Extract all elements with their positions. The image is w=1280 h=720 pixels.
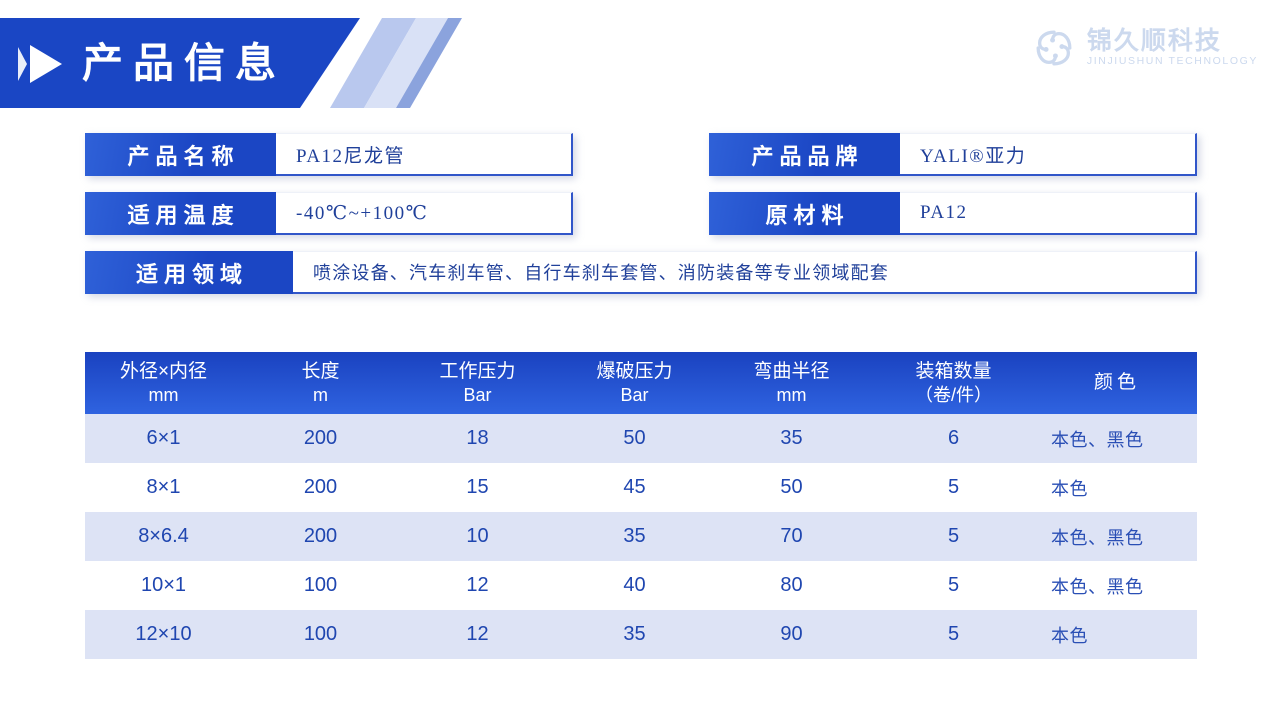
- field-value-operating-temperature: -40℃~+100℃: [276, 192, 573, 235]
- header-banner-content: 产品信息: [0, 18, 286, 108]
- column-header-unit: Bar: [556, 384, 713, 408]
- logo-name-en: JINJIUSHUN TECHNOLOGY: [1087, 55, 1258, 68]
- field-row-2: 适用温度 -40℃~+100℃ 原材料 PA12: [85, 192, 1197, 235]
- column-header-name: 工作压力: [439, 361, 515, 382]
- table-cell: 12: [399, 610, 556, 659]
- table-column-header-4: 爆破压力Bar: [556, 352, 713, 414]
- table-cell: 5: [870, 512, 1037, 561]
- field-label-application-area: 适用领域: [85, 251, 293, 294]
- company-logo: 锦久顺科技 JINJIUSHUN TECHNOLOGY: [1031, 25, 1258, 71]
- column-header-unit: （卷/件）: [870, 384, 1037, 408]
- table-cell-color: 本色、黑色: [1037, 512, 1197, 561]
- table-column-header-5: 弯曲半径mm: [713, 352, 870, 414]
- column-header-name: 装箱数量: [915, 361, 991, 382]
- table-cell: 35: [556, 512, 713, 561]
- table-cell: 70: [713, 512, 870, 561]
- table-row: 6×12001850356本色、黑色: [85, 414, 1197, 463]
- table-cell: 5: [870, 561, 1037, 610]
- table-cell: 10: [399, 512, 556, 561]
- field-application-area: 适用领域 喷涂设备、汽车刹车管、自行车刹车套管、消防装备等专业领域配套: [85, 251, 1197, 294]
- column-header-unit: mm: [713, 384, 870, 408]
- table-cell: 50: [713, 463, 870, 512]
- field-value-product-name: PA12尼龙管: [276, 133, 573, 176]
- table-cell: 200: [242, 414, 399, 463]
- table-cell: 40: [556, 561, 713, 610]
- page-title: 产品信息: [82, 43, 286, 84]
- table-column-header-7: 颜色: [1037, 352, 1197, 414]
- table-row: 12×101001235905本色: [85, 610, 1197, 659]
- table-cell: 12: [399, 561, 556, 610]
- field-product-brand: 产品品牌 YALI®亚力: [709, 133, 1197, 176]
- table-cell: 8×1: [85, 463, 242, 512]
- column-header-name: 爆破压力: [596, 361, 672, 382]
- column-header-name: 弯曲半径: [753, 361, 829, 382]
- table-cell: 80: [713, 561, 870, 610]
- table-column-header-6: 装箱数量（卷/件）: [870, 352, 1037, 414]
- logo-dot-right: [1059, 44, 1064, 49]
- column-header-name: 颜色: [1094, 372, 1140, 393]
- specification-table: 外径×内径mm长度m工作压力Bar爆破压力Bar弯曲半径mm装箱数量（卷/件）颜…: [85, 352, 1197, 659]
- table-cell: 12×10: [85, 610, 242, 659]
- table-cell: 15: [399, 463, 556, 512]
- column-header-unit: mm: [85, 384, 242, 408]
- field-label-operating-temperature: 适用温度: [85, 192, 276, 235]
- table-cell: 45: [556, 463, 713, 512]
- field-label-raw-material: 原材料: [709, 192, 900, 235]
- field-operating-temperature: 适用温度 -40℃~+100℃: [85, 192, 573, 235]
- field-label-product-brand: 产品品牌: [709, 133, 900, 176]
- field-row-3: 适用领域 喷涂设备、汽车刹车管、自行车刹车套管、消防装备等专业领域配套: [85, 251, 1197, 294]
- play-triangle-icon: [18, 45, 62, 83]
- table-row: 8×12001545505本色: [85, 463, 1197, 512]
- column-header-unit: m: [242, 384, 399, 408]
- table-cell: 5: [870, 610, 1037, 659]
- logo-dot-top: [1050, 38, 1055, 43]
- logo-name-cn: 锦久顺科技: [1087, 28, 1258, 55]
- table-cell: 200: [242, 512, 399, 561]
- field-value-product-brand: YALI®亚力: [900, 133, 1197, 176]
- column-header-unit: Bar: [399, 384, 556, 408]
- table-column-header-3: 工作压力Bar: [399, 352, 556, 414]
- table-header-row: 外径×内径mm长度m工作压力Bar爆破压力Bar弯曲半径mm装箱数量（卷/件）颜…: [85, 352, 1197, 414]
- table-cell: 35: [556, 610, 713, 659]
- table-body: 6×12001850356本色、黑色8×12001545505本色8×6.420…: [85, 414, 1197, 659]
- table-row: 8×6.42001035705本色、黑色: [85, 512, 1197, 561]
- table-cell: 5: [870, 463, 1037, 512]
- table-header: 外径×内径mm长度m工作压力Bar爆破压力Bar弯曲半径mm装箱数量（卷/件）颜…: [85, 352, 1197, 414]
- logo-dot-bottom: [1053, 53, 1058, 58]
- table-cell-color: 本色、黑色: [1037, 561, 1197, 610]
- field-product-name: 产品名称 PA12尼龙管: [85, 133, 573, 176]
- logo-text-block: 锦久顺科技 JINJIUSHUN TECHNOLOGY: [1087, 28, 1258, 68]
- jinjiushun-logo-mark: [1031, 25, 1077, 71]
- table-cell-color: 本色: [1037, 610, 1197, 659]
- logo-dot-left: [1044, 47, 1049, 52]
- table-cell: 6: [870, 414, 1037, 463]
- table-cell-color: 本色、黑色: [1037, 414, 1197, 463]
- field-raw-material: 原材料 PA12: [709, 192, 1197, 235]
- table-cell: 100: [242, 561, 399, 610]
- field-label-product-name: 产品名称: [85, 133, 276, 176]
- table-cell: 10×1: [85, 561, 242, 610]
- table-cell: 50: [556, 414, 713, 463]
- table-cell: 100: [242, 610, 399, 659]
- table-cell-color: 本色: [1037, 463, 1197, 512]
- product-info-fields: 产品名称 PA12尼龙管 产品品牌 YALI®亚力 适用温度 -40℃~+100…: [85, 133, 1197, 310]
- table-cell: 35: [713, 414, 870, 463]
- play-triangle-sliver: [18, 47, 27, 81]
- table-cell: 6×1: [85, 414, 242, 463]
- column-header-name: 长度: [301, 361, 339, 382]
- column-header-name: 外径×内径: [120, 361, 207, 382]
- table-cell: 8×6.4: [85, 512, 242, 561]
- table-column-header-1: 外径×内径mm: [85, 352, 242, 414]
- table-cell: 200: [242, 463, 399, 512]
- field-value-raw-material: PA12: [900, 192, 1197, 235]
- table-cell: 18: [399, 414, 556, 463]
- play-triangle-main: [30, 45, 62, 83]
- table-column-header-2: 长度m: [242, 352, 399, 414]
- table-row: 10×11001240805本色、黑色: [85, 561, 1197, 610]
- field-value-application-area: 喷涂设备、汽车刹车管、自行车刹车套管、消防装备等专业领域配套: [293, 251, 1197, 294]
- table-cell: 90: [713, 610, 870, 659]
- field-row-1: 产品名称 PA12尼龙管 产品品牌 YALI®亚力: [85, 133, 1197, 176]
